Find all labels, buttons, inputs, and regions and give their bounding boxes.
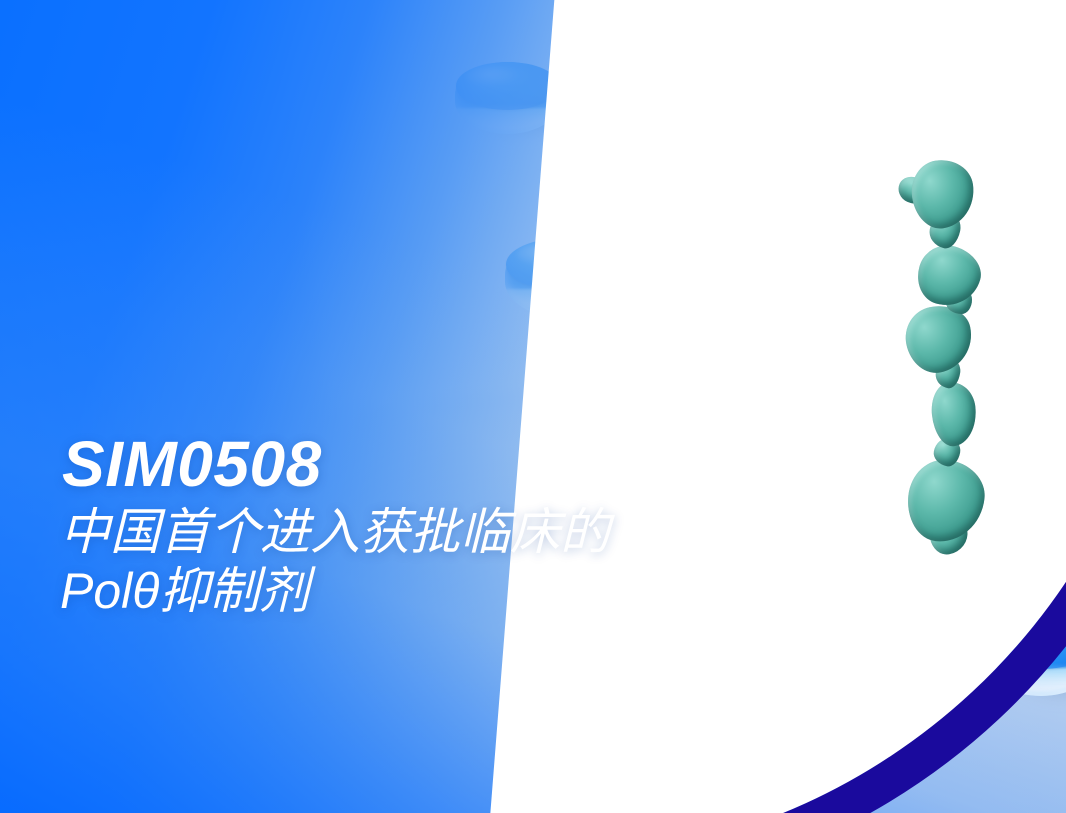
page-title: SIM0508 — [62, 432, 880, 497]
headline-block: SIM0508 中国首个进入获批临床的 Polθ抑制剂 — [60, 432, 880, 621]
protein-node — [929, 380, 979, 448]
protein-structure-render — [890, 160, 1010, 580]
subtitle-line-2: Polθ抑制剂 — [60, 562, 880, 621]
protein-node — [908, 156, 979, 232]
promo-banner: SIM0508 中国首个进入获批临床的 Polθ抑制剂 — [0, 0, 1066, 813]
protein-node — [904, 456, 988, 545]
protein-node — [911, 239, 987, 314]
subtitle-line-1: 中国首个进入获批临床的 — [60, 503, 880, 562]
